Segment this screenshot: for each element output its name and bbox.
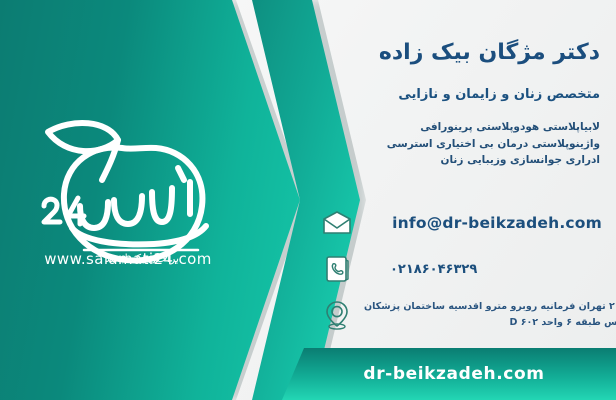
doctor-specialty: متخصص زنان و زایمان و نازایی bbox=[320, 87, 600, 102]
phone-book-icon bbox=[320, 252, 354, 286]
doctor-name: دکتر مژگان بیک زاده bbox=[320, 40, 600, 66]
service-line-3: ادراری جوانسازی وزیبایی زنان bbox=[320, 152, 600, 168]
map-pin-icon bbox=[320, 298, 354, 332]
script-lam bbox=[152, 188, 172, 222]
footer-bar: dr-beikzadeh.com bbox=[282, 348, 616, 400]
numeral-2 bbox=[44, 199, 60, 222]
address-line-2: نارسیس طبقه ۶ واحد ۶۰۲ D bbox=[364, 315, 616, 331]
email-row[interactable]: info@dr-beikzadeh.com bbox=[320, 206, 602, 240]
address-line-1: مطب ۲ تهران فرمانیه روبرو مترو اقدسیه سا… bbox=[364, 299, 616, 315]
footer-website[interactable]: dr-beikzadeh.com bbox=[353, 364, 544, 384]
service-line-1: لابیاپلاستی هودوپلاستی پرینورافی bbox=[320, 119, 600, 135]
address-text: مطب ۲ تهران فرمانیه روبرو مترو اقدسیه سا… bbox=[364, 299, 616, 331]
envelope-icon bbox=[320, 206, 354, 240]
contact-block: info@dr-beikzadeh.com ۰۲۱۸۶۰۴۶۳۲۹ bbox=[320, 206, 602, 344]
script-mim bbox=[114, 196, 142, 224]
address-row[interactable]: مطب ۲ تهران فرمانیه روبرو مترو اقدسیه سا… bbox=[320, 298, 602, 332]
logo-website-url: www.salamati24.com bbox=[28, 250, 228, 268]
services-list: لابیاپلاستی هودوپلاستی پرینورافی واژینوپ… bbox=[320, 119, 600, 168]
phone-number: ۰۲۱۸۶۰۴۶۳۲۹ bbox=[364, 262, 602, 277]
email-address: info@dr-beikzadeh.com bbox=[364, 214, 602, 232]
script-alef bbox=[178, 168, 190, 214]
business-card: براحتی یک لبخند www.salamati24.com دکتر … bbox=[0, 0, 616, 400]
service-line-2: واژینوپلاستی درمان بی اختیاری استرسی bbox=[320, 136, 600, 152]
apple-leaf bbox=[48, 123, 118, 151]
phone-row[interactable]: ۰۲۱۸۶۰۴۶۳۲۹ bbox=[320, 252, 602, 286]
